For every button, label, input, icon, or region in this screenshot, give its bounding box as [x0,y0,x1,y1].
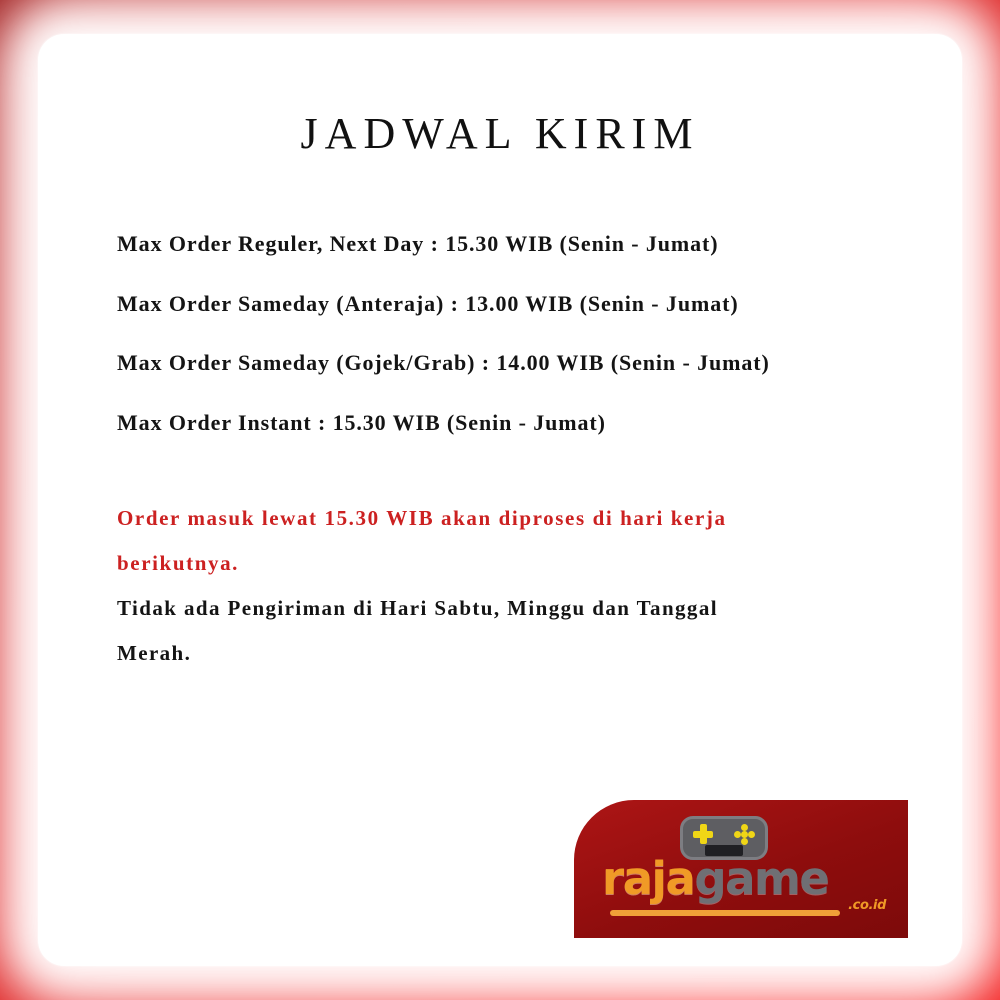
schedule-list: Max Order Reguler, Next Day : 15.30 WIB … [117,230,907,677]
notice-text-line-2: berikutnya. [117,541,907,586]
notice-block: Order masuk lewat 15.30 WIB akan diprose… [117,496,907,677]
list-item: Max Order Reguler, Next Day : 15.30 WIB … [117,230,907,258]
gamepad-dpad [693,824,713,844]
notice-text-line-1: Order masuk lewat 15.30 WIB akan diprose… [117,496,907,541]
closing-text-line-2: Merah. [117,631,907,676]
closing-text-line-1: Tidak ada Pengiriman di Hari Sabtu, Ming… [117,586,907,631]
content-plate: JADWAL KIRIM Max Order Reguler, Next Day… [92,62,908,938]
brand-tld: .co.id [848,898,886,913]
gamepad-buttons [734,824,755,845]
brand-panel: rajagame .co.id [574,800,908,938]
list-item: Max Order Sameday (Anteraja) : 13.00 WIB… [117,290,907,318]
brand-wordmark: rajagame [602,856,828,901]
list-item: Max Order Sameday (Gojek/Grab) : 14.00 W… [117,349,907,377]
brand-name-game: game [694,852,828,905]
poster-canvas: JADWAL KIRIM Max Order Reguler, Next Day… [0,0,1000,1000]
list-item: Max Order Instant : 15.30 WIB (Senin - J… [117,409,907,437]
page-title: JADWAL KIRIM [92,108,908,159]
brand-underline [610,910,840,916]
brand-name-raja: raja [602,852,694,905]
